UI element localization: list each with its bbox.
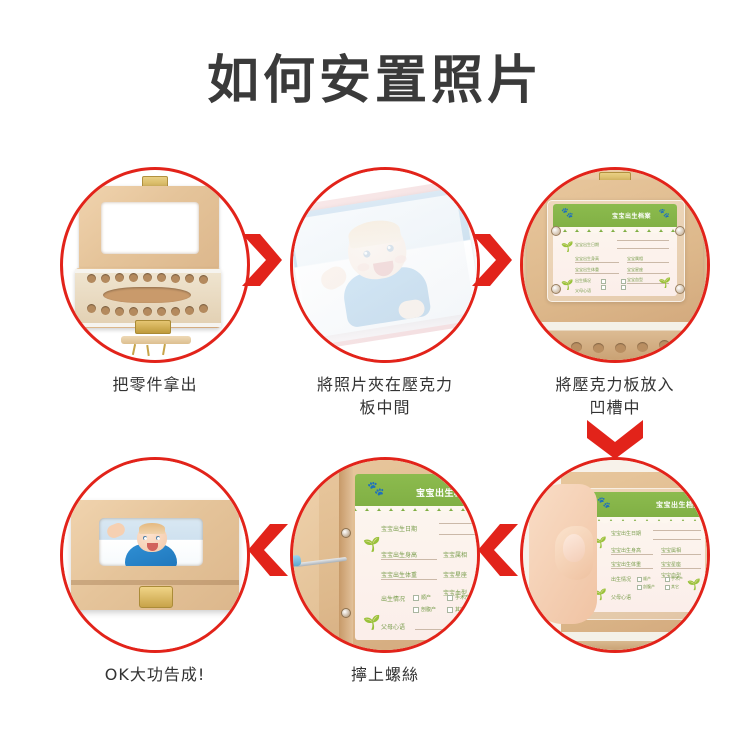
card-field-birthtype: 出生情况 — [381, 594, 405, 603]
baby-hair — [139, 523, 165, 534]
baby-eye-left — [143, 536, 147, 540]
option-natural-birth: 顺产 — [643, 576, 651, 582]
card-field-height: 宝宝出生身高 — [381, 550, 417, 559]
step-5-caption: 擰上螺絲 — [285, 663, 485, 686]
step-4-image-wrap — [60, 457, 250, 653]
box-latch — [135, 320, 171, 334]
step-5-circle: 🐾 宝宝出生档案 宝宝出生日期 宝宝出生身高 宝宝属相 宝宝出生体重 宝宝星座 … — [290, 457, 480, 653]
screw-top-left — [551, 226, 561, 236]
option-surgery: 手术产 — [455, 594, 470, 601]
record-card: 🐾 宝宝出生档案 宝宝出生日期 宝宝出生身高 宝宝属相 宝宝出生体重 宝宝星座 … — [355, 474, 477, 640]
card-title: 宝宝出生档案 — [416, 486, 473, 499]
baby-eye-right — [156, 536, 160, 540]
step-2-image-wrap — [290, 167, 480, 363]
step-2-caption: 將照片夾在壓克力 板中間 — [285, 373, 485, 419]
card-field-birthtype: 出生情况 — [611, 576, 631, 583]
step-6: 🐾 宝宝出生档案 宝宝出生日期 宝宝出生身高 宝宝属相 宝宝出生体重 宝宝星座 — [515, 457, 715, 663]
card-field-birthdate: 宝宝出生日期 — [611, 530, 641, 537]
arrow-right-icon-2 — [468, 232, 514, 288]
step-1: 把零件拿出 — [55, 167, 255, 396]
step-5: 🐾 宝宝出生档案 宝宝出生日期 宝宝出生身高 宝宝属相 宝宝出生体重 宝宝星座 … — [285, 457, 485, 686]
scene-hand-holding-box: 🐾 宝宝出生档案 宝宝出生日期 宝宝出生身高 宝宝属相 宝宝出生体重 宝宝星座 — [523, 460, 707, 650]
step-4-circle — [60, 457, 250, 653]
scene-screwing: 🐾 宝宝出生档案 宝宝出生日期 宝宝出生身高 宝宝属相 宝宝出生体重 宝宝星座 … — [293, 460, 477, 650]
tooth-tray — [561, 632, 707, 650]
step-1-circle — [60, 167, 250, 363]
card-field-message: 父母心语 — [381, 622, 405, 631]
option-cesarean: 剖腹产 — [643, 584, 655, 590]
gold-latch — [139, 586, 173, 608]
card-field-birthdate: 宝宝出生日期 — [381, 524, 417, 533]
card-wave-edge — [587, 517, 705, 526]
thumb-nail — [563, 534, 585, 562]
box-seam-line — [71, 580, 239, 585]
loose-parts-strip — [121, 336, 191, 344]
record-card: 🐾 🐾 宝宝出生档案 宝宝出生日期 宝宝出生身高 宝宝属相 宝宝出生体重 — [553, 204, 677, 296]
card-field-constellation: 宝宝星座 — [661, 561, 681, 568]
scene-open-box — [63, 170, 247, 360]
card-field-constellation: 宝宝星座 — [443, 570, 467, 579]
arrow-down-icon — [585, 418, 645, 460]
arrow-right-icon-1 — [238, 232, 284, 288]
option-natural-birth: 顺产 — [421, 594, 431, 601]
box-edge-rail — [339, 460, 353, 650]
step-3-caption: 將壓克力板放入 凹槽中 — [515, 373, 715, 419]
option-other: 其它 — [671, 584, 679, 590]
page-title: 如何安置照片 — [0, 38, 750, 113]
step-2: 將照片夾在壓克力 板中間 — [285, 167, 485, 419]
card-field-message: 父母心语 — [611, 594, 631, 601]
sprout-icon-2: 🌱 — [363, 614, 380, 631]
sprout-icon-2: 🌱 — [561, 280, 573, 291]
step-4: OK大功告成! — [55, 457, 255, 686]
card-field-zodiac: 宝宝属相 — [661, 547, 681, 554]
paw-icon-left: 🐾 — [597, 496, 611, 509]
paw-icon-left: 🐾 — [367, 480, 384, 497]
sprout-icon-1: 🌱 — [363, 536, 380, 553]
screw-bottom-left — [551, 284, 561, 294]
step-4-caption: OK大功告成! — [55, 663, 255, 686]
scene-photo-in-acrylic — [293, 170, 477, 360]
step-3-circle: 🐾 🐾 宝宝出生档案 宝宝出生日期 宝宝出生身高 宝宝属相 宝宝出生体重 — [520, 167, 710, 363]
sprout-icon-1: 🌱 — [561, 242, 573, 253]
step-6-circle: 🐾 宝宝出生档案 宝宝出生日期 宝宝出生身高 宝宝属相 宝宝出生体重 宝宝星座 — [520, 457, 710, 653]
step-5-image-wrap: 🐾 宝宝出生档案 宝宝出生日期 宝宝出生身高 宝宝属相 宝宝出生体重 宝宝星座 … — [290, 457, 480, 653]
screw-bottom-right — [675, 284, 685, 294]
step-2-circle — [290, 167, 480, 363]
record-card: 🐾 宝宝出生档案 宝宝出生日期 宝宝出生身高 宝宝属相 宝宝出生体重 宝宝星座 — [587, 492, 705, 612]
lid-window-opening — [101, 202, 199, 254]
paw-icon-left: 🐾 — [561, 208, 573, 219]
step-6-image-wrap: 🐾 宝宝出生档案 宝宝出生日期 宝宝出生身高 宝宝属相 宝宝出生体重 宝宝星座 — [520, 457, 710, 653]
card-wave-edge — [553, 227, 677, 236]
option-other: 其它 — [455, 606, 465, 613]
screw-hole-top — [341, 528, 351, 538]
infographic-page: 如何安置照片 — [0, 0, 750, 750]
screw-top-right — [675, 226, 685, 236]
card-field-zodiac: 宝宝属相 — [443, 550, 467, 559]
card-field-message: 父母心语 — [575, 288, 591, 294]
step-1-image-wrap — [60, 167, 250, 363]
paw-icon-right: 🐾 — [659, 208, 670, 219]
baby-arm — [105, 521, 127, 540]
card-title: 宝宝出生档案 — [612, 211, 651, 220]
card-field-birthtype: 出生情况 — [575, 278, 591, 284]
step-3: 🐾 🐾 宝宝出生档案 宝宝出生日期 宝宝出生身高 宝宝属相 宝宝出生体重 — [515, 167, 715, 419]
photo-window — [99, 518, 203, 566]
step-1-caption: 把零件拿出 — [55, 373, 255, 396]
acrylic-sheet-top — [293, 194, 476, 347]
card-title: 宝宝出生档案 — [656, 500, 701, 510]
scene-card-into-groove: 🐾 🐾 宝宝出生档案 宝宝出生日期 宝宝出生身高 宝宝属相 宝宝出生体重 — [523, 170, 707, 360]
screw-hole-bottom — [341, 608, 351, 618]
sprout-icon-3: 🌱 — [659, 278, 671, 289]
card-field-weight: 宝宝出生体重 — [381, 570, 417, 579]
card-field-birthdate: 宝宝出生日期 — [575, 242, 599, 248]
sprout-icon-3: 🌱 — [687, 578, 701, 591]
card-field-weight: 宝宝出生体重 — [611, 561, 641, 568]
option-cesarean: 剖腹产 — [421, 606, 436, 613]
card-wave-edge — [355, 506, 477, 515]
card-field-height: 宝宝出生身高 — [611, 547, 641, 554]
option-surgery: 手术产 — [671, 576, 683, 582]
tray-jaw-groove — [103, 287, 191, 303]
step-3-image-wrap: 🐾 🐾 宝宝出生档案 宝宝出生日期 宝宝出生身高 宝宝属相 宝宝出生体重 — [520, 167, 710, 363]
scene-finished-box — [63, 460, 247, 650]
